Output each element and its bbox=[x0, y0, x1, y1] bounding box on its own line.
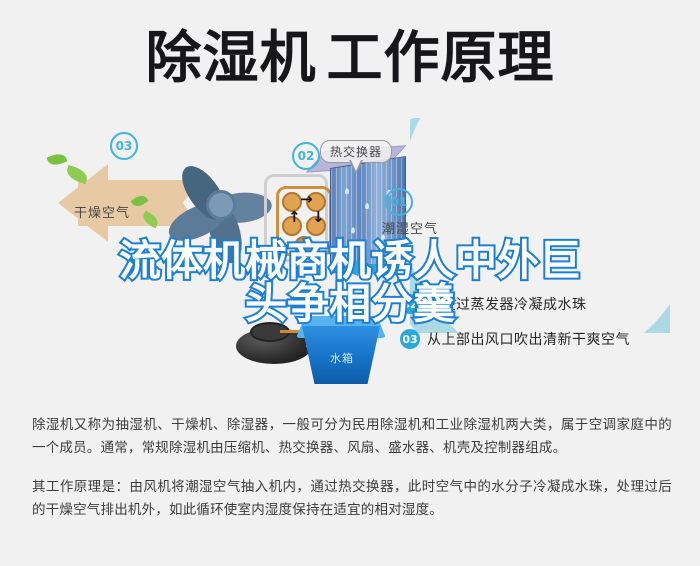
title-part-1: 除湿机 bbox=[146, 26, 317, 91]
dry-air-label: 干燥空气 bbox=[74, 202, 130, 221]
step-text: 从上部出风口吹出清新干爽空气 bbox=[427, 329, 630, 349]
infographic-page: 除湿机工作原理 03 干燥空气 bbox=[0, 0, 700, 566]
title-part-2: 工作原理 bbox=[327, 26, 555, 91]
paragraph-1: 除湿机又称为抽湿机、干燥机、除湿器，一般可分为民用除湿机和工业除湿机两大类，属于… bbox=[32, 414, 672, 460]
flow-arrow-right-icon: → bbox=[300, 192, 313, 207]
diagram-badge-03: 03 bbox=[110, 132, 138, 160]
list-item: 02 气经过蒸发器冷凝成水珠 bbox=[400, 293, 690, 315]
flow-arrow-up-icon: ↑ bbox=[288, 210, 301, 225]
step-badge: 03 bbox=[400, 329, 420, 349]
page-title: 除湿机工作原理 bbox=[0, 18, 700, 100]
diagram-badge-01: 01 bbox=[385, 188, 413, 216]
fan-hub bbox=[206, 190, 236, 220]
inlet-arrow-shaft bbox=[356, 264, 398, 273]
step-badge: 02 bbox=[400, 294, 420, 314]
air-inlet-arrow bbox=[338, 260, 398, 276]
humid-air-label: 潮湿空气 bbox=[382, 218, 438, 237]
flow-arrow-down-icon: ↓ bbox=[312, 210, 325, 225]
step-list: 01 从下部进风口吸入潮湿空气 02 气经过蒸发器冷凝成水珠 03 从上部出风口… bbox=[400, 258, 690, 363]
water-tank: 水箱 bbox=[296, 316, 386, 390]
description-section: 除湿机又称为抽湿机、干燥机、除湿器，一般可分为民用除湿机和工业除湿机两大类，属于… bbox=[32, 414, 672, 522]
inlet-arrow-head bbox=[338, 260, 358, 276]
title-text: 除湿机工作原理 bbox=[146, 31, 555, 87]
callout-pointer bbox=[349, 160, 363, 174]
diagram-badge-02: 02 bbox=[292, 142, 320, 170]
list-item: 03 从上部出风口吹出清新干爽空气 bbox=[400, 328, 690, 350]
coil-ring bbox=[294, 236, 314, 256]
step-text: 气经过蒸发器冷凝成水珠 bbox=[427, 294, 587, 314]
paragraph-2: 其工作原理是：由风机将潮湿空气抽入机内，通过热交换器，此时空气中的水分子冷凝成水… bbox=[32, 476, 672, 522]
water-tank-label: 水箱 bbox=[330, 350, 354, 366]
